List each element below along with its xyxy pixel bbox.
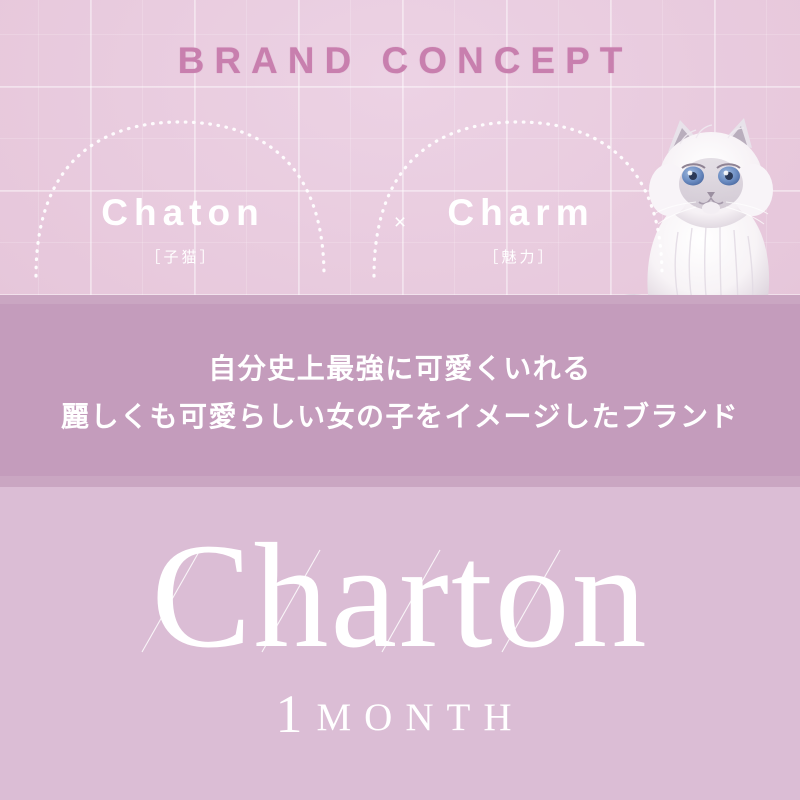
- band-highlight-top: [0, 295, 800, 304]
- product-duration: 1MONTH: [0, 683, 800, 745]
- brand-logo: Charton: [0, 534, 800, 674]
- brand-wordmark: Charton: [50, 534, 750, 674]
- svg-text:Charton: Charton: [151, 534, 648, 674]
- page-title: BRAND CONCEPT: [0, 40, 800, 82]
- duration-number: 1: [276, 684, 305, 744]
- band-highlight-bottom: [0, 476, 800, 487]
- concept-word-chaton: Chaton ［子猫］: [30, 118, 330, 278]
- concept-word-gloss: ［子猫］: [30, 246, 330, 267]
- brand-concept-poster: BRAND CONCEPT: [0, 0, 800, 800]
- concept-statement-line: 麗しくも可愛らしい女の子をイメージしたブランド: [0, 393, 800, 441]
- multiply-icon: ×: [0, 212, 800, 233]
- concept-statement-line: 自分史上最強に可愛くいれる: [0, 345, 800, 393]
- concept-statement-band: 自分史上最強に可愛くいれる 麗しくも可愛らしい女の子をイメージしたブランド: [0, 295, 800, 487]
- concept-word-charm: Charm ［魅力］: [368, 118, 668, 278]
- duration-unit: MONTH: [317, 696, 525, 739]
- concept-word-gloss: ［魅力］: [368, 246, 668, 267]
- concept-words: Chaton ［子猫］ Charm ［魅力］: [0, 118, 800, 278]
- concept-statement: 自分史上最強に可愛くいれる 麗しくも可愛らしい女の子をイメージしたブランド: [0, 345, 800, 441]
